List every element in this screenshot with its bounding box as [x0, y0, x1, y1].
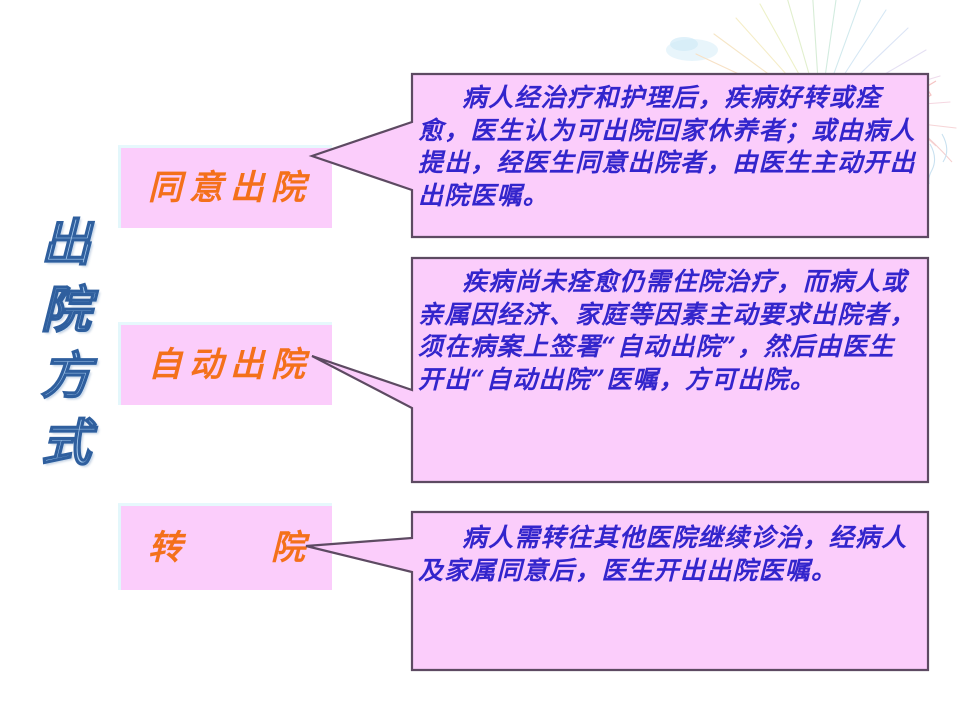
slide-canvas: 出 院 方 式 同意出院 病人经治疗和护理后，疾病好转或痊愈，医生认为可出院回家…	[0, 0, 960, 720]
title-char-3: 方	[41, 351, 91, 401]
title-char-1: 出	[41, 218, 91, 268]
callout-transfer-hospital[interactable]: 病人需转往其他医院继续诊治，经病人及家属同意后，医生开出出院医嘱。	[296, 500, 940, 685]
callout-agree-discharge[interactable]: 病人经治疗和护理后，疾病好转或痊愈，医生认为可出院回家休养者；或由病人提出，经医…	[300, 60, 940, 255]
callout-text-transfer-hospital: 病人需转往其他医院继续诊治，经病人及家属同意后，医生开出出院医嘱。	[418, 522, 918, 587]
label-text-agree-discharge: 同意出院	[141, 171, 312, 205]
callout-self-discharge[interactable]: 疾病尚未痊愈仍需住院治疗，而病人或亲属因经济、家庭等因素主动要求出院者，须在病案…	[300, 248, 940, 498]
callout-text-self-discharge: 疾病尚未痊愈仍需住院治疗，而病人或亲属因经济、家庭等因素主动要求出院者，须在病案…	[418, 266, 918, 396]
label-text-self-discharge: 自动出院	[141, 348, 312, 382]
page-title: 出 院 方 式	[18, 218, 114, 468]
title-char-2: 院	[41, 285, 91, 335]
label-text-transfer-hospital: 转 院	[141, 531, 312, 565]
callout-text-agree-discharge: 病人经治疗和护理后，疾病好转或痊愈，医生认为可出院回家休养者；或由病人提出，经医…	[418, 82, 918, 212]
title-char-4: 式	[41, 418, 91, 468]
